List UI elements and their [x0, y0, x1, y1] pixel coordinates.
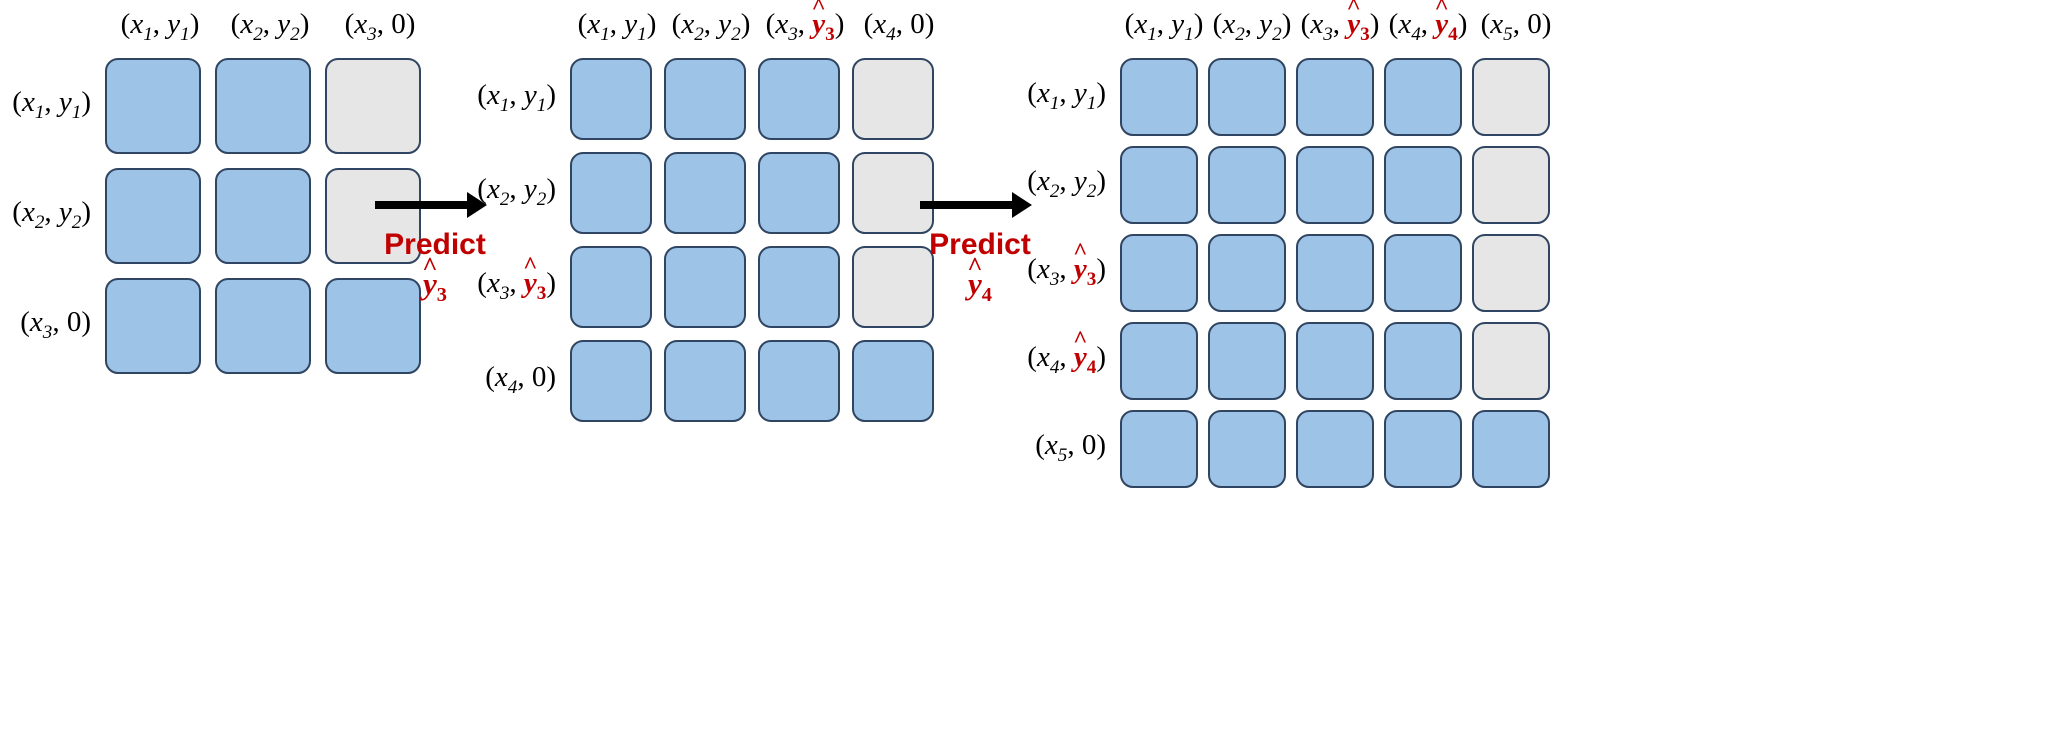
matrix-row: (x2, y2) [1120, 146, 1560, 224]
matrix-step-3-col-header-2: (x2, y2) [1208, 10, 1296, 44]
matrix-step-3-cell-r3-c5 [1472, 234, 1550, 312]
matrix-step-3-row-header-2: (x2, y2) [1027, 167, 1120, 201]
matrix-row: (x3, ^y3) [1120, 234, 1560, 312]
matrix-row: (x1, y1) [570, 58, 946, 140]
matrix-step-2-col-header-1: (x1, y1) [570, 10, 664, 44]
matrix-step-2-col-header-2: (x2, y2) [664, 10, 758, 44]
matrix-step-2-cell-r3-c1 [570, 246, 652, 328]
matrix-step-3-cell-r1-c2 [1208, 58, 1286, 136]
matrix-step-1-cell-r2-c1 [105, 168, 201, 264]
matrix-step-3-cell-r4-c3 [1296, 322, 1374, 400]
matrix-step-3-cell-r2-c2 [1208, 146, 1286, 224]
matrix-step-3-col-header-3: (x3, ^y3) [1296, 10, 1384, 44]
matrix-step-3-cell-r1-c5 [1472, 58, 1550, 136]
matrix-step-3-cell-r5-c1 [1120, 410, 1198, 488]
matrix-step-2-col-header-3: (x3, ^y3) [758, 10, 852, 44]
matrix-step-1-row-header-3: (x3, 0) [20, 308, 105, 342]
matrix-step-3-cell-r1-c1 [1120, 58, 1198, 136]
matrix-step-2-grid: (x1, y1)(x2, y2)(x3, ^y3)(x4, 0) [570, 58, 946, 434]
matrix-step-2-cell-r4-c3 [758, 340, 840, 422]
matrix-row: (x4, ^y4) [1120, 322, 1560, 400]
matrix-step-2-cell-r1-c2 [664, 58, 746, 140]
matrix-step-2-cell-r2-c1 [570, 152, 652, 234]
matrix-step-3-cell-r3-c1 [1120, 234, 1198, 312]
matrix-step-1-row-header-2: (x2, y2) [12, 198, 105, 232]
matrix-step-1-column-headers: (x1, y1)(x2, y2)(x3, 0) [105, 10, 435, 44]
matrix-step-3-col-header-5: (x5, 0) [1472, 10, 1560, 44]
matrix-step-3-row-header-5: (x5, 0) [1035, 431, 1120, 465]
matrix-step-3-col-header-4: (x4, ^y4) [1384, 10, 1472, 44]
matrix-step-1-cell-r1-c1 [105, 58, 201, 154]
matrix-step-2-col-header-4: (x4, 0) [852, 10, 946, 44]
matrix-step-1-cell-r2-c2 [215, 168, 311, 264]
matrix-step-3-cell-r4-c2 [1208, 322, 1286, 400]
matrix-step-3-row-header-4: (x4, ^y4) [1027, 343, 1120, 377]
matrix-step-3-cell-r4-c5 [1472, 322, 1550, 400]
matrix-step-3-cell-r3-c2 [1208, 234, 1286, 312]
matrix-step-2-cell-r2-c2 [664, 152, 746, 234]
matrix-step-2-cell-r4-c2 [664, 340, 746, 422]
matrix-step-3-cell-r4-c1 [1120, 322, 1198, 400]
predict-2-symbol: ^y4 [920, 266, 1040, 307]
matrix-step-2-cell-r1-c1 [570, 58, 652, 140]
matrix-row: (x2, y2) [570, 152, 946, 234]
matrix-step-3-cell-r5-c4 [1384, 410, 1462, 488]
matrix-step-3-cell-r1-c4 [1384, 58, 1462, 136]
matrix-step-1-col-header-1: (x1, y1) [105, 10, 215, 44]
right-arrow-icon [375, 192, 487, 218]
matrix-step-2-row-header-4: (x4, 0) [485, 363, 570, 397]
matrix-step-1-cell-r3-c1 [105, 278, 201, 374]
matrix-step-2-row-header-2: (x2, y2) [477, 175, 570, 209]
matrix-step-1-col-header-2: (x2, y2) [215, 10, 325, 44]
matrix-step-3-cell-r1-c3 [1296, 58, 1374, 136]
matrix-step-2-cell-r1-c4 [852, 58, 934, 140]
right-arrow-icon [920, 192, 1032, 218]
matrix-step-2-column-headers: (x1, y1)(x2, y2)(x3, ^y3)(x4, 0) [570, 10, 946, 44]
matrix-step-3-column-headers: (x1, y1)(x2, y2)(x3, ^y3)(x4, ^y4)(x5, 0… [1120, 10, 1560, 44]
matrix-step-3-cell-r5-c5 [1472, 410, 1550, 488]
diagram-canvas: (x1, y1)(x2, y2)(x3, 0) (x1, y1)(x2, y2)… [0, 0, 2045, 746]
matrix-row: (x3, ^y3) [570, 246, 946, 328]
matrix-step-3-row-header-1: (x1, y1) [1027, 79, 1120, 113]
matrix-step-1-row-header-1: (x1, y1) [12, 88, 105, 122]
matrix-step-2-row-header-3: (x3, ^y3) [477, 269, 570, 303]
matrix-row: (x1, y1) [105, 58, 435, 154]
matrix-step-3-grid: (x1, y1)(x2, y2)(x3, ^y3)(x4, ^y4)(x5, 0… [1120, 58, 1560, 498]
matrix-step-2-cell-r1-c3 [758, 58, 840, 140]
matrix-step-3-cell-r3-c4 [1384, 234, 1462, 312]
matrix-step-2-cell-r3-c2 [664, 246, 746, 328]
matrix-step-3-row-header-3: (x3, ^y3) [1027, 255, 1120, 289]
matrix-step-2-cell-r4-c4 [852, 340, 934, 422]
transition-predict-2: Predict ^y4 [920, 192, 1040, 307]
matrix-step-1-cell-r3-c2 [215, 278, 311, 374]
matrix-step-3-cell-r3-c3 [1296, 234, 1374, 312]
matrix-step-2-cell-r4-c1 [570, 340, 652, 422]
matrix-row: (x4, 0) [570, 340, 946, 422]
matrix-step-2-cell-r3-c3 [758, 246, 840, 328]
matrix-row: (x1, y1) [1120, 58, 1560, 136]
matrix-step-2-cell-r2-c3 [758, 152, 840, 234]
matrix-step-1-cell-r1-c3 [325, 58, 421, 154]
matrix-step-3-cell-r2-c4 [1384, 146, 1462, 224]
matrix-step-3-cell-r2-c1 [1120, 146, 1198, 224]
matrix-step-3-cell-r5-c2 [1208, 410, 1286, 488]
matrix-step-2-row-header-1: (x1, y1) [477, 81, 570, 115]
matrix-step-3-cell-r5-c3 [1296, 410, 1374, 488]
matrix-step-1-cell-r1-c2 [215, 58, 311, 154]
matrix-step-3-col-header-1: (x1, y1) [1120, 10, 1208, 44]
matrix-step-3-cell-r2-c3 [1296, 146, 1374, 224]
matrix-step-1-col-header-3: (x3, 0) [325, 10, 435, 44]
matrix-step-3-cell-r4-c4 [1384, 322, 1462, 400]
matrix-row: (x5, 0) [1120, 410, 1560, 488]
matrix-step-3-cell-r2-c5 [1472, 146, 1550, 224]
